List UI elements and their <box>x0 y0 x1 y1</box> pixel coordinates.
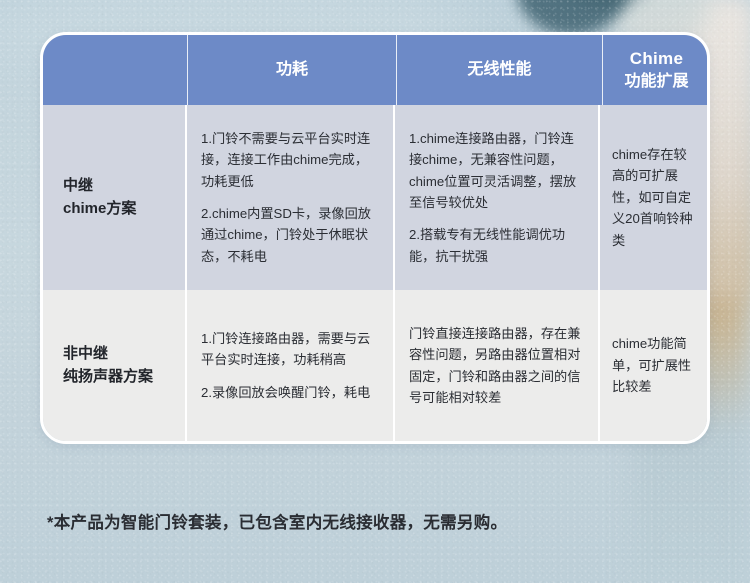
table-row-2-label-line2: 纯扬声器方案 <box>63 366 185 389</box>
table-row-1-wireless-cell: 1.chime连接路由器，门铃连接chime，无兼容性问题，chime位置可灵活… <box>395 105 600 290</box>
table-row-1-wireless-text: 1.chime连接路由器，门铃连接chime，无兼容性问题，chime位置可灵活… <box>395 128 598 267</box>
table-row-2-power-item-1: 1.门铃连接路由器，需要与云平台实时连接，功耗稍高 <box>201 328 380 371</box>
table-row-1-wireless-item-1: 1.chime连接路由器，门铃连接chime，无兼容性问题，chime位置可灵活… <box>409 128 585 214</box>
table-header-chime-label-cn: 功能扩展 <box>624 71 688 92</box>
table-row-1-power-item-1: 1.门铃不需要与云平台实时连接，连接工作由chime完成，功耗更低 <box>201 128 380 192</box>
table-row-1-label-line2: chime方案 <box>63 198 185 221</box>
table-header-cell-power: 功耗 <box>188 35 397 105</box>
table-row: 中继 chime方案 1.门铃不需要与云平台实时连接，连接工作由chime完成，… <box>43 105 707 290</box>
table-row-1-wireless-item-2: 2.搭载专有无线性能调优功能，抗干扰强 <box>409 224 585 267</box>
table-row-1-label-line1: 中继 <box>63 175 185 198</box>
comparison-table: 功耗 无线性能 Chime 功能扩展 中继 chime方案 <box>40 32 710 444</box>
table-row-2-power-cell: 1.门铃连接路由器，需要与云平台实时连接，功耗稍高 2.录像回放会唤醒门铃，耗电 <box>187 290 395 441</box>
table-row-2-chime-item-1: chime功能简单，可扩展性比较差 <box>612 333 699 397</box>
table-row: 非中继 纯扬声器方案 1.门铃连接路由器，需要与云平台实时连接，功耗稍高 2.录… <box>43 290 707 441</box>
table-row-2-label-line1: 非中继 <box>63 343 185 366</box>
table-row-2-chime-cell: chime功能简单，可扩展性比较差 <box>600 290 707 441</box>
table-row-2-label-cell: 非中继 纯扬声器方案 <box>43 290 187 441</box>
table-header-power-label: 功耗 <box>276 59 308 80</box>
table-row-2-chime-text: chime功能简单，可扩展性比较差 <box>600 333 707 397</box>
table-row-1-label-cell: 中继 chime方案 <box>43 105 187 290</box>
table-header-cell-blank <box>43 35 188 105</box>
table-row-2-wireless-text: 门铃直接连接路由器，存在兼容性问题，另路由器位置相对固定，门铃和路由器之间的信号… <box>395 323 598 409</box>
footnote-text: *本产品为智能门铃套装，已包含室内无线接收器，无需另购。 <box>47 509 507 533</box>
table-header-chime-label-en: Chime <box>624 48 688 70</box>
table-row-2-wireless-cell: 门铃直接连接路由器，存在兼容性问题，另路由器位置相对固定，门铃和路由器之间的信号… <box>395 290 600 441</box>
table-row-1-power-item-2: 2.chime内置SD卡，录像回放通过chime，门铃处于休眠状态，不耗电 <box>201 203 380 267</box>
table-header-row: 功耗 无线性能 Chime 功能扩展 <box>43 35 707 105</box>
table-row-2-wireless-item-1: 门铃直接连接路由器，存在兼容性问题，另路由器位置相对固定，门铃和路由器之间的信号… <box>409 323 585 409</box>
table-header-cell-chime: Chime 功能扩展 <box>603 35 710 105</box>
table-row-1-label: 中继 chime方案 <box>43 175 185 220</box>
table-header-wireless-label: 无线性能 <box>467 59 531 80</box>
table-row-1-chime-cell: chime存在较高的可扩展性，如可自定义20首响铃种类 <box>600 105 707 290</box>
product-comparison-page: 功耗 无线性能 Chime 功能扩展 中继 chime方案 <box>0 0 750 583</box>
table-row-1-power-cell: 1.门铃不需要与云平台实时连接，连接工作由chime完成，功耗更低 2.chim… <box>187 105 395 290</box>
table-row-2-label: 非中继 纯扬声器方案 <box>43 343 185 388</box>
table-row-1-power-text: 1.门铃不需要与云平台实时连接，连接工作由chime完成，功耗更低 2.chim… <box>187 128 393 267</box>
table-row-2-power-item-2: 2.录像回放会唤醒门铃，耗电 <box>201 382 380 403</box>
table-header-cell-wireless: 无线性能 <box>397 35 603 105</box>
table-row-1-chime-text: chime存在较高的可扩展性，如可自定义20首响铃种类 <box>600 144 707 251</box>
table-row-1-chime-item-1: chime存在较高的可扩展性，如可自定义20首响铃种类 <box>612 144 699 251</box>
table-row-2-power-text: 1.门铃连接路由器，需要与云平台实时连接，功耗稍高 2.录像回放会唤醒门铃，耗电 <box>187 328 393 403</box>
